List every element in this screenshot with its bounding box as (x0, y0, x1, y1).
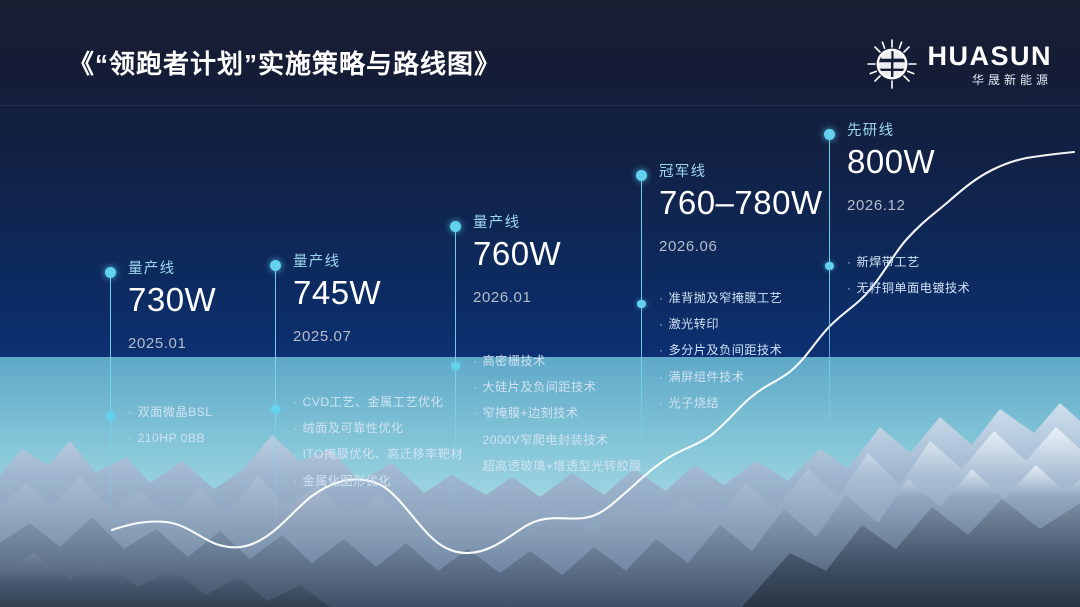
bullet-text: 双面微晶BSL (138, 405, 213, 419)
milestone-line-label: 量产线 (473, 216, 561, 232)
bullet-marker-icon: · (659, 343, 664, 357)
bullet-text: 多分片及负间距技术 (669, 343, 783, 357)
bullet-text: 激光转印 (669, 317, 720, 331)
milestone-date: 2025.07 (293, 328, 381, 345)
slide-header: 《“领跑者计划”实施策略与路线图》 (0, 0, 1080, 106)
bullet-marker-icon: · (473, 354, 478, 368)
milestone-date: 2026.06 (659, 238, 823, 255)
bullet-text: 无籽铜单面电镀技术 (857, 281, 971, 295)
milestone-stem-line (110, 272, 111, 522)
roadmap-slide: 《“领跑者计划”实施策略与路线图》 (0, 0, 1080, 607)
sun-globe-icon (866, 38, 918, 90)
bullet-marker-icon: · (473, 406, 478, 420)
bullet-text: 绒面及可靠性优化 (303, 421, 404, 435)
milestone-bullet-item: ·激光转印 (659, 318, 782, 330)
milestone-power-value: 760–780W (659, 186, 823, 221)
milestone-line-label: 冠军线 (659, 165, 823, 181)
milestone-power-value: 760W (473, 237, 561, 272)
milestone-bullet-item: ·高密栅技术 (473, 355, 642, 367)
milestone-stem-line (275, 265, 276, 530)
bullet-marker-icon: · (659, 317, 664, 331)
milestone-date: 2025.01 (128, 335, 216, 352)
milestone-bullet-item: ·绒面及可靠性优化 (293, 422, 463, 434)
bullet-text: 210HP 0BB (138, 431, 206, 445)
bullet-marker-icon: · (847, 281, 852, 295)
milestone-bullet-item: ·210HP 0BB (128, 432, 212, 444)
milestone-header-group: 先研线800W2026.12 (847, 124, 935, 214)
milestone-stem-line (829, 134, 830, 469)
bullet-marker-icon: · (659, 396, 664, 410)
milestone-bullet-list: ·高密栅技术·大硅片及负间距技术·窄掩膜+边刻技术·2000V窄爬电封装技术·超… (473, 355, 642, 486)
milestone-bullet-item: ·准背抛及窄掩膜工艺 (659, 292, 782, 304)
bullet-marker-icon: · (847, 255, 852, 269)
milestone-header-group: 量产线745W2025.07 (293, 255, 381, 345)
milestone-bullet-item: ·超高透玻璃+增透型光转胶膜 (473, 460, 642, 472)
bullet-marker-icon: · (128, 405, 133, 419)
bullet-marker-icon: · (659, 370, 664, 384)
milestone-header-group: 量产线730W2025.01 (128, 262, 216, 352)
milestone-bullet-item: ·ITO掩膜优化、高迁移率靶材 (293, 448, 463, 460)
bullet-text: 超高透玻璃+增透型光转胶膜 (483, 459, 642, 473)
milestone-header-group: 冠军线760–780W2026.06 (659, 165, 823, 255)
page-title: 《“领跑者计划”实施策略与路线图》 (68, 44, 501, 81)
bullet-marker-icon: · (128, 431, 133, 445)
milestone-bullet-item: ·无籽铜单面电镀技术 (847, 282, 970, 294)
milestone-bullet-list: ·CVD工艺、金属工艺优化·绒面及可靠性优化·ITO掩膜优化、高迁移率靶材·金属… (293, 396, 463, 501)
milestone-power-value: 730W (128, 283, 216, 318)
milestone-bullet-item: ·光子烧结 (659, 397, 782, 409)
bullet-text: 2000V窄爬电封装技术 (483, 433, 609, 447)
logo-chinese-name: 华晟新能源 (972, 74, 1052, 86)
milestone-bullet-list: ·准背抛及窄掩膜工艺·激光转印·多分片及负间距技术·满屏组件技术·光子烧结 (659, 292, 782, 423)
bullet-marker-icon: · (293, 395, 298, 409)
milestone-bullet-list: ·双面微晶BSL·210HP 0BB (128, 406, 212, 458)
bullet-text: 准背抛及窄掩膜工艺 (669, 291, 783, 305)
milestone-bullet-item: ·窄掩膜+边刻技术 (473, 407, 642, 419)
bullet-text: 窄掩膜+边刻技术 (483, 406, 579, 420)
bullet-text: 新焊带工艺 (857, 255, 920, 269)
bullet-marker-icon: · (293, 447, 298, 461)
bullet-marker-icon: · (473, 459, 478, 473)
milestone-power-value: 800W (847, 145, 935, 180)
milestone-bullet-item: ·大硅片及负间距技术 (473, 381, 642, 393)
bullet-text: CVD工艺、金属工艺优化 (303, 395, 444, 409)
header-divider (0, 105, 1080, 106)
milestone-header-group: 量产线760W2026.01 (473, 216, 561, 306)
bullet-text: ITO掩膜优化、高迁移率靶材 (303, 447, 463, 461)
milestone-date: 2026.01 (473, 289, 561, 306)
milestone-bullet-list: ·新焊带工艺·无籽铜单面电镀技术 (847, 256, 970, 308)
bullet-marker-icon: · (659, 291, 664, 305)
milestone-bullet-item: ·新焊带工艺 (847, 256, 970, 268)
milestone-stem-line (641, 175, 642, 495)
bullet-marker-icon: · (473, 380, 478, 394)
brand-logo: HUASUN 华晟新能源 (866, 38, 1052, 90)
milestone-bullet-item: ·双面微晶BSL (128, 406, 212, 418)
milestone-bullet-item: ·CVD工艺、金属工艺优化 (293, 396, 463, 408)
milestone-date: 2026.12 (847, 197, 935, 214)
milestone-power-value: 745W (293, 276, 381, 311)
bullet-marker-icon: · (293, 421, 298, 435)
bullet-marker-icon: · (473, 433, 478, 447)
bullet-text: 光子烧结 (669, 396, 720, 410)
milestone-bullet-item: ·多分片及负间距技术 (659, 344, 782, 356)
milestone-line-label: 量产线 (128, 262, 216, 278)
milestone-line-label: 量产线 (293, 255, 381, 271)
milestone-bullet-item: ·满屏组件技术 (659, 371, 782, 383)
milestone-bullet-item: ·2000V窄爬电封装技术 (473, 434, 642, 446)
logo-english-name: HUASUN (927, 43, 1052, 70)
bullet-marker-icon: · (293, 474, 298, 488)
milestone-bullet-item: ·金属化图形优化 (293, 475, 463, 487)
bullet-text: 满屏组件技术 (669, 370, 745, 384)
bullet-text: 金属化图形优化 (303, 474, 391, 488)
milestone-line-label: 先研线 (847, 124, 935, 140)
bullet-text: 高密栅技术 (483, 354, 546, 368)
milestone-stem-line (455, 226, 456, 516)
bullet-text: 大硅片及负间距技术 (483, 380, 597, 394)
